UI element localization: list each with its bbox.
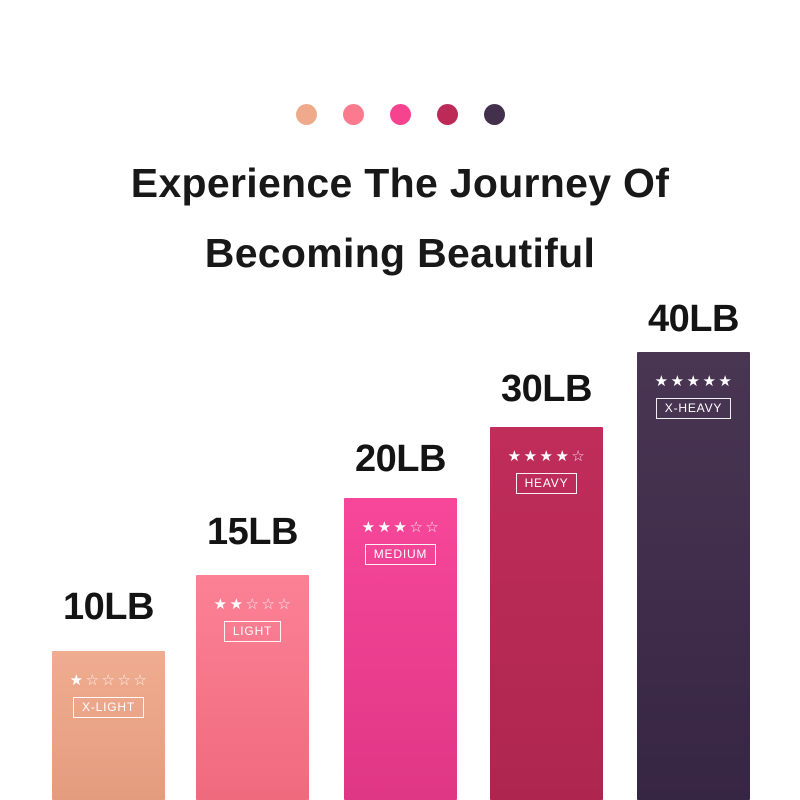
bar-weight-label-40lb: 40LB	[648, 300, 739, 338]
star-filled-icon: ★	[524, 449, 538, 464]
bar-group-30lb: 30LB★★★★☆HEAVY	[490, 370, 603, 800]
star-filled-icon: ★	[555, 449, 569, 464]
star-rating-10lb: ★☆☆☆☆	[70, 673, 148, 688]
star-filled-icon: ★	[540, 449, 554, 464]
star-empty-icon: ☆	[102, 673, 116, 688]
bar-20lb[interactable]: ★★★☆☆MEDIUM	[344, 498, 457, 800]
bar-weight-label-20lb: 20LB	[355, 440, 446, 478]
star-filled-icon: ★	[671, 374, 685, 389]
bar-weight-label-15lb: 15LB	[207, 513, 298, 551]
bar-content-30lb: ★★★★☆HEAVY	[490, 449, 603, 494]
level-badge-x-light: X-LIGHT	[73, 697, 144, 718]
bar-40lb[interactable]: ★★★★★X-HEAVY	[637, 352, 750, 800]
bar-weight-label-10lb: 10LB	[63, 588, 154, 626]
star-filled-icon: ★	[508, 449, 522, 464]
infographic-root: Experience The Journey Of Becoming Beaut…	[0, 0, 800, 800]
bar-group-20lb: 20LB★★★☆☆MEDIUM	[344, 440, 457, 800]
star-filled-icon: ★	[655, 374, 669, 389]
star-filled-icon: ★	[362, 520, 376, 535]
star-empty-icon: ☆	[277, 597, 291, 612]
star-filled-icon: ★	[214, 597, 228, 612]
star-filled-icon: ★	[718, 374, 732, 389]
bar-10lb[interactable]: ★☆☆☆☆X-LIGHT	[52, 651, 165, 800]
star-rating-15lb: ★★☆☆☆	[214, 597, 292, 612]
star-filled-icon: ★	[230, 597, 244, 612]
bar-group-40lb: 40LB★★★★★X-HEAVY	[637, 300, 750, 800]
star-rating-20lb: ★★★☆☆	[362, 520, 440, 535]
star-empty-icon: ☆	[246, 597, 260, 612]
bar-content-40lb: ★★★★★X-HEAVY	[637, 374, 750, 419]
resistance-bar-chart: 10LB★☆☆☆☆X-LIGHT15LB★★☆☆☆LIGHT20LB★★★☆☆M…	[0, 0, 800, 800]
level-badge-light: LIGHT	[224, 621, 281, 642]
bar-15lb[interactable]: ★★☆☆☆LIGHT	[196, 575, 309, 800]
star-empty-icon: ☆	[261, 597, 275, 612]
bar-content-15lb: ★★☆☆☆LIGHT	[196, 597, 309, 642]
bar-weight-label-30lb: 30LB	[501, 370, 592, 408]
level-badge-x-heavy: X-HEAVY	[656, 398, 731, 419]
bar-group-15lb: 15LB★★☆☆☆LIGHT	[196, 513, 309, 800]
star-empty-icon: ☆	[409, 520, 423, 535]
star-empty-icon: ☆	[86, 673, 100, 688]
star-filled-icon: ★	[702, 374, 716, 389]
bar-group-10lb: 10LB★☆☆☆☆X-LIGHT	[52, 588, 165, 800]
bar-content-20lb: ★★★☆☆MEDIUM	[344, 520, 457, 565]
star-empty-icon: ☆	[571, 449, 585, 464]
star-filled-icon: ★	[70, 673, 84, 688]
star-rating-40lb: ★★★★★	[655, 374, 733, 389]
star-filled-icon: ★	[378, 520, 392, 535]
star-filled-icon: ★	[687, 374, 701, 389]
bar-30lb[interactable]: ★★★★☆HEAVY	[490, 427, 603, 800]
level-badge-heavy: HEAVY	[516, 473, 578, 494]
bar-content-10lb: ★☆☆☆☆X-LIGHT	[52, 673, 165, 718]
star-empty-icon: ☆	[133, 673, 147, 688]
star-rating-30lb: ★★★★☆	[508, 449, 586, 464]
level-badge-medium: MEDIUM	[365, 544, 436, 565]
star-empty-icon: ☆	[117, 673, 131, 688]
star-empty-icon: ☆	[425, 520, 439, 535]
star-filled-icon: ★	[394, 520, 408, 535]
